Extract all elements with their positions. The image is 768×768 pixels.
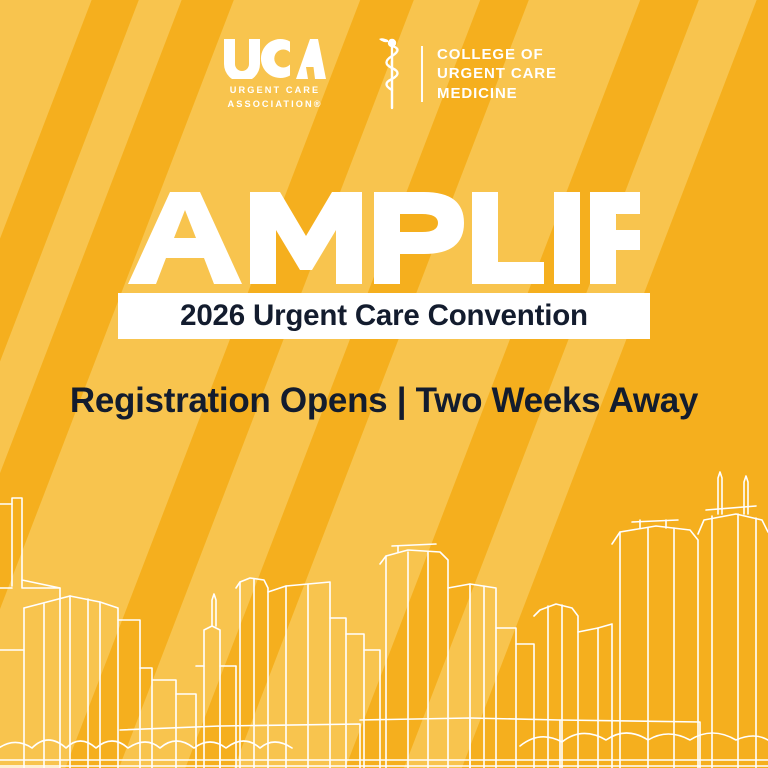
logo-divider bbox=[421, 46, 423, 102]
cucm-text: COLLEGE OF URGENT CARE MEDICINE bbox=[437, 45, 557, 104]
amplify-wordmark bbox=[0, 192, 768, 284]
rod-of-asclepius-icon bbox=[375, 36, 409, 112]
cucm-line1: COLLEGE OF bbox=[437, 45, 557, 65]
convention-banner: 2026 Urgent Care Convention bbox=[118, 293, 650, 339]
cucm-line2: URGENT CARE bbox=[437, 64, 557, 84]
uca-logo: URGENT CARE ASSOCIATION® bbox=[211, 37, 339, 111]
banner-text: 2026 Urgent Care Convention bbox=[180, 299, 588, 333]
cucm-logo: COLLEGE OF URGENT CARE MEDICINE bbox=[375, 36, 557, 112]
uca-logo-icon bbox=[222, 37, 328, 79]
chicago-skyline-illustration bbox=[0, 468, 768, 768]
uca-subtitle-line2: ASSOCIATION® bbox=[228, 98, 323, 111]
cucm-line3: MEDICINE bbox=[437, 84, 557, 104]
uca-subtitle-line1: URGENT CARE bbox=[230, 84, 320, 97]
promo-poster: URGENT CARE ASSOCIATION® COLLEGE OF URGE… bbox=[0, 0, 768, 768]
header-logos: URGENT CARE ASSOCIATION® COLLEGE OF URGE… bbox=[0, 36, 768, 112]
tagline: Registration Opens | Two Weeks Away bbox=[0, 381, 768, 421]
